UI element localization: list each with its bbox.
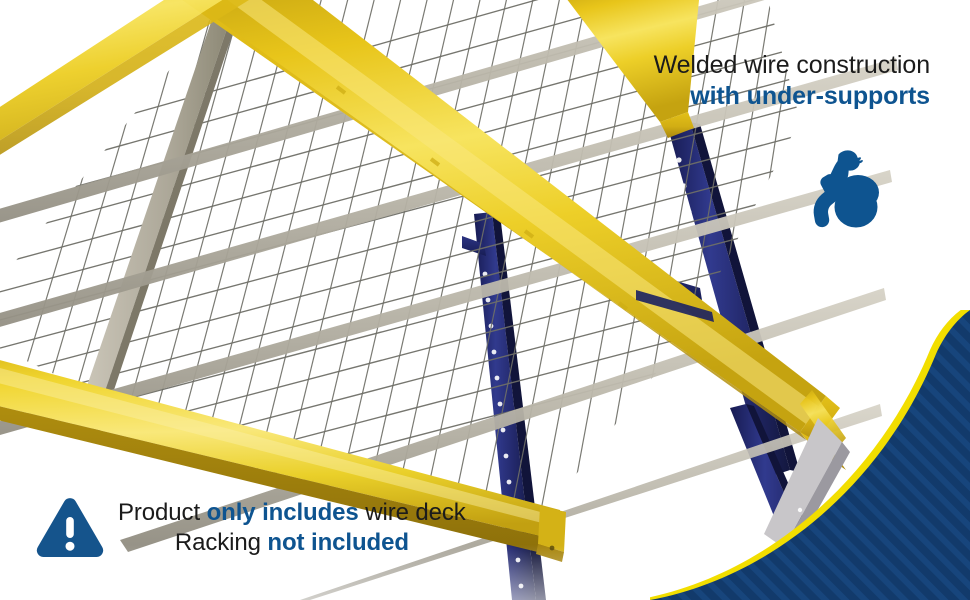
warning-line-2-prefix: Racking [175, 529, 268, 556]
warning-line-1-prefix: Product [118, 499, 207, 526]
warning-line-2: Racking not included [118, 528, 466, 558]
warning-block: Product only includes wire deck Racking … [34, 492, 466, 564]
headline-line-1: Welded wire construction [510, 50, 930, 81]
headline-line-2: with under-supports [510, 81, 930, 112]
headline-block: Welded wire construction with under-supp… [510, 50, 930, 112]
bicep-flex-icon [800, 148, 896, 232]
warning-line-1: Product only includes wire deck [118, 498, 466, 528]
warning-line-2-strong: not included [267, 529, 408, 556]
product-banner: Welded wire construction with under-supp… [0, 0, 970, 600]
warning-text: Product only includes wire deck Racking … [118, 492, 466, 558]
warning-triangle-icon [34, 496, 106, 564]
warning-line-1-strong: only includes [207, 499, 359, 526]
warning-line-1-suffix: wire deck [359, 499, 466, 526]
